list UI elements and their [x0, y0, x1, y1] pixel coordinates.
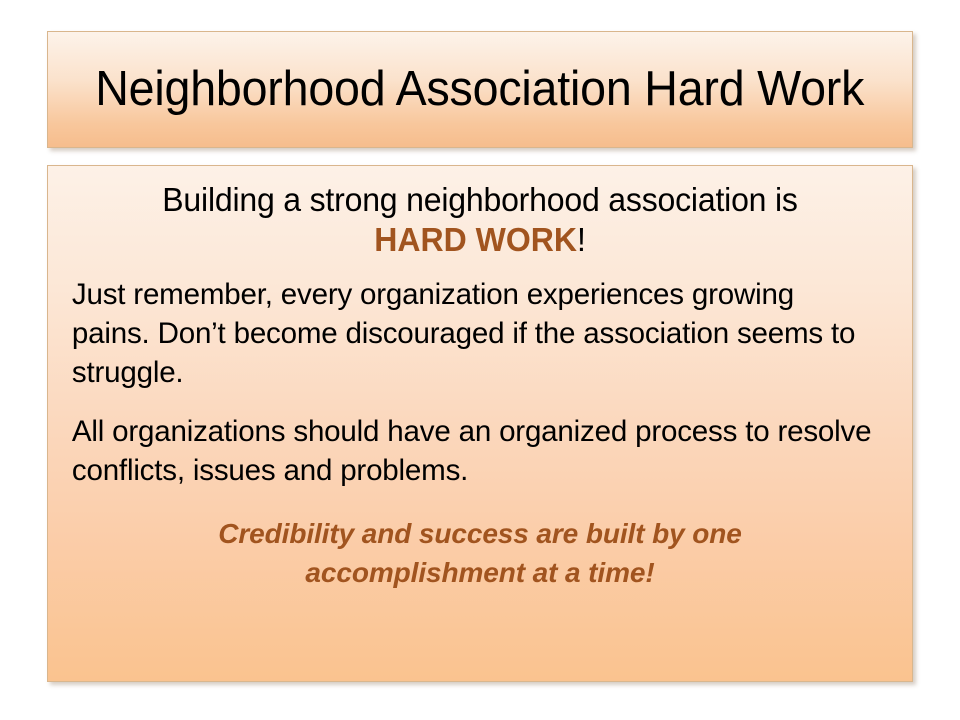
lead-line-1: Building a strong neighborhood associati… [162, 181, 797, 218]
closing-line-2: accomplishment at a time! [102, 553, 858, 592]
body-paragraph-1: Just remember, every organization experi… [64, 275, 884, 392]
page-title: Neighborhood Association Hard Work [96, 64, 865, 115]
body-paragraph-2: All organizations should have an organiz… [64, 412, 884, 490]
lead-statement: Building a strong neighborhood associati… [76, 180, 883, 261]
emphasis-hard-work: HARD WORK [374, 221, 577, 258]
title-box: Neighborhood Association Hard Work [47, 31, 913, 148]
closing-statement: Credibility and success are built by one… [64, 514, 896, 592]
emphasis-exclamation: ! [577, 221, 586, 258]
closing-line-1: Credibility and success are built by one [102, 514, 858, 553]
slide-canvas: Neighborhood Association Hard Work Build… [0, 0, 960, 720]
body-content-box: Building a strong neighborhood associati… [47, 165, 913, 682]
